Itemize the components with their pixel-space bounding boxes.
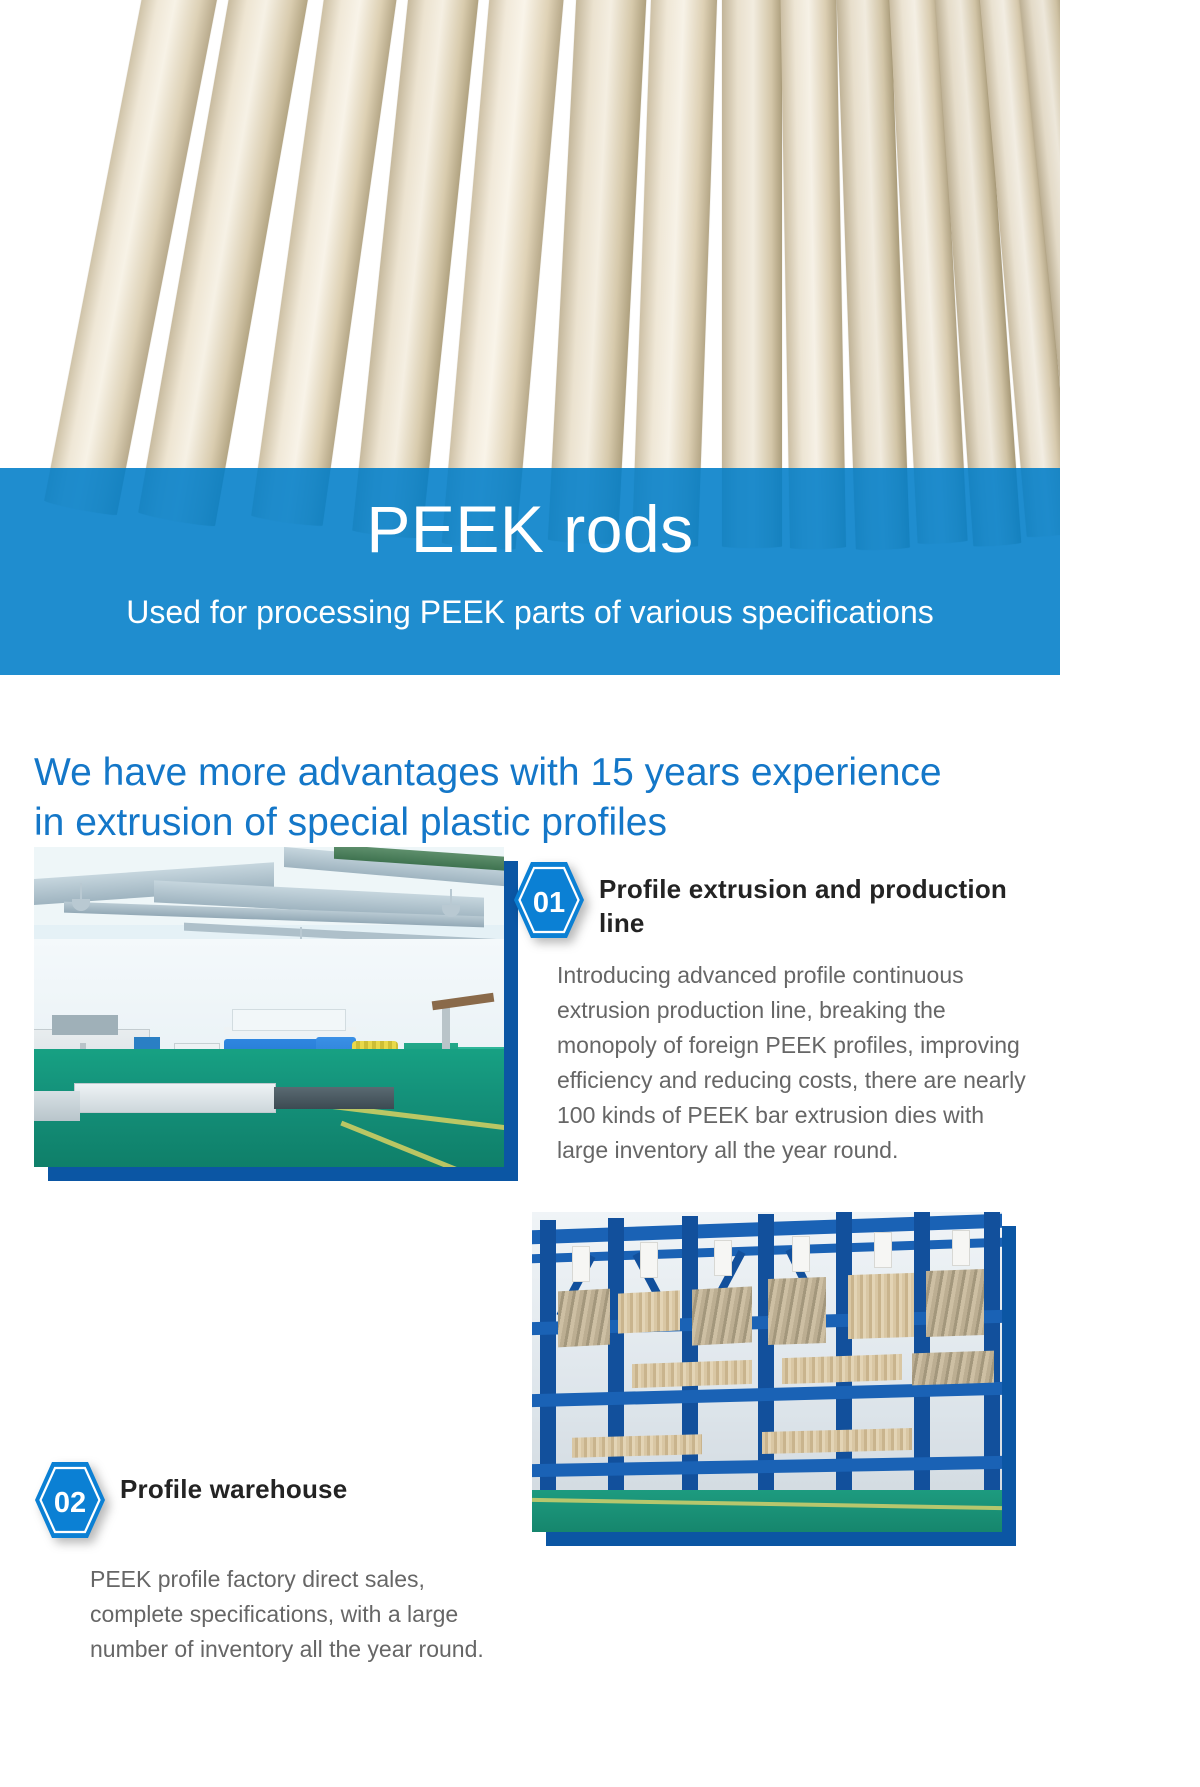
section-02-paragraph: PEEK profile factory direct sales, compl… <box>90 1562 520 1667</box>
product-detail-page: PEEK rods Used for processing PEEK parts… <box>0 0 1200 1787</box>
section-02-title: Profile warehouse <box>120 1460 347 1506</box>
headline-line-1: We have more advantages with 15 years ex… <box>34 748 1044 798</box>
advantages-headline: We have more advantages with 15 years ex… <box>34 748 1044 848</box>
section-01-heading-row: 01 Profile extrusion and production line <box>513 860 1053 940</box>
profile-warehouse-photo <box>532 1212 1002 1532</box>
section-02-photo <box>532 1212 1002 1532</box>
badge-02-number: 02 <box>54 1487 86 1519</box>
page-subtitle: Used for processing PEEK parts of variou… <box>0 592 1060 632</box>
section-01-body: 01 Profile extrusion and production line… <box>513 860 1053 1168</box>
page-title: PEEK rods <box>0 492 1060 566</box>
profile-extrusion-production-line-photo <box>34 847 504 1167</box>
hexagon-badge-icon: 02 <box>34 1460 106 1540</box>
badge-01-number: 01 <box>533 887 565 919</box>
section-02-body: 02 Profile warehouse PEEK profile factor… <box>34 1460 524 1667</box>
section-02-heading-row: 02 Profile warehouse <box>34 1460 524 1540</box>
badge-01: 01 <box>513 860 585 940</box>
badge-02: 02 <box>34 1460 106 1540</box>
hexagon-badge-icon: 01 <box>513 860 585 940</box>
section-01-paragraph: Introducing advanced profile continuous … <box>557 958 1037 1168</box>
hero-section: PEEK rods Used for processing PEEK parts… <box>0 0 1060 675</box>
section-01-title: Profile extrusion and production line <box>599 860 1049 940</box>
headline-line-2: in extrusion of special plastic profiles <box>34 798 1044 848</box>
section-01-photo <box>34 847 504 1167</box>
